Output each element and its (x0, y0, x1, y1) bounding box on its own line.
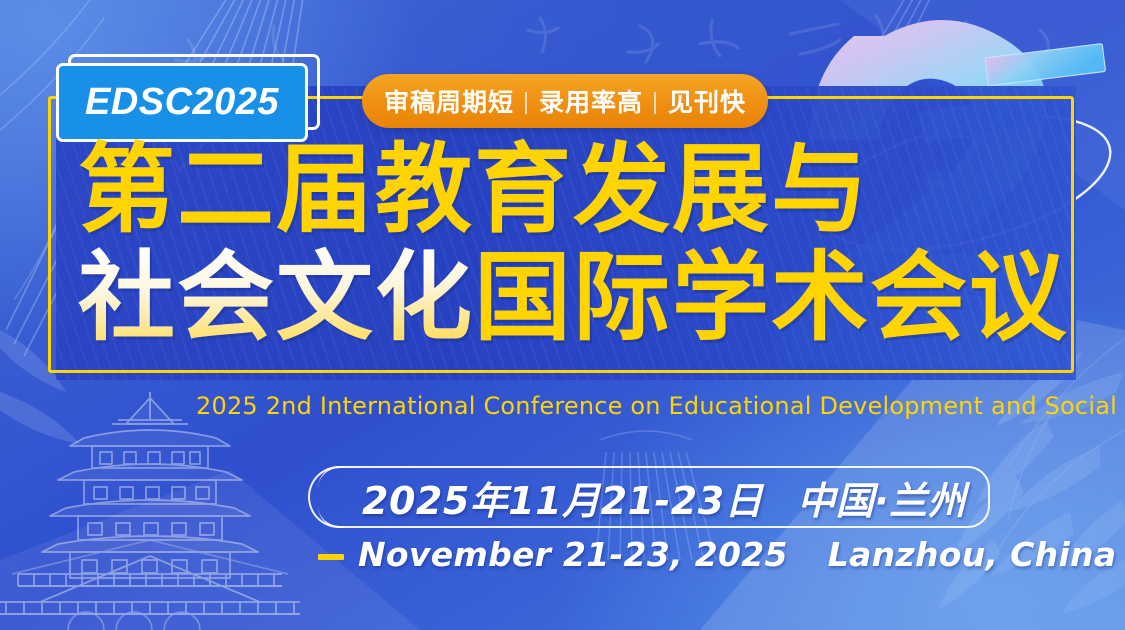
badge-label: EDSC2025 (85, 81, 279, 124)
title-line-2-solid-segment: 国际学术会议 (474, 241, 1068, 354)
tagline-separator-2: | (643, 88, 668, 115)
pagoda-illustration (0, 392, 300, 630)
tagline-separator-1: | (514, 88, 539, 115)
tagline-pill: 审稿周期短 | 录用率高 | 见刊快 (362, 74, 768, 128)
english-place: Lanzhou, China (828, 535, 1117, 574)
tagline-item-2: 录用率高 (539, 83, 643, 119)
title-line-2: 社会文化国际学术会议 (78, 244, 1058, 352)
title-line-2-gradient-segment: 社会文化 (78, 241, 474, 354)
tagline-item-3: 见刊快 (668, 83, 746, 119)
english-date: November 21-23, 2025 (358, 535, 788, 574)
chinese-place: 中国·兰州 (797, 479, 966, 523)
badge-bubble: EDSC2025 (56, 63, 308, 142)
date-location-english-row: November 21-23, 2025Lanzhou, China (318, 535, 1116, 574)
title-line-1: 第二届教育发展与 (78, 136, 1058, 244)
conference-banner: EDSC2025 审稿周期短 | 录用率高 | 见刊快 第二届教育发展与 社会文… (0, 0, 1125, 630)
chinese-date: 2025年11月21-23日 (362, 479, 763, 523)
conference-title: 第二届教育发展与 社会文化国际学术会议 (78, 136, 1058, 352)
date-location-chinese: 2025年11月21-23日中国·兰州 (362, 470, 966, 525)
date-location-english: November 21-23, 2025Lanzhou, China (358, 535, 1116, 574)
tagline-item-1: 审稿周期短 (384, 83, 514, 119)
date-location-box: 2025年11月21-23日中国·兰州 (318, 466, 990, 528)
yellow-dash-marker (318, 554, 344, 560)
english-subtitle: 2025 2nd International Conference on Edu… (196, 392, 1125, 420)
